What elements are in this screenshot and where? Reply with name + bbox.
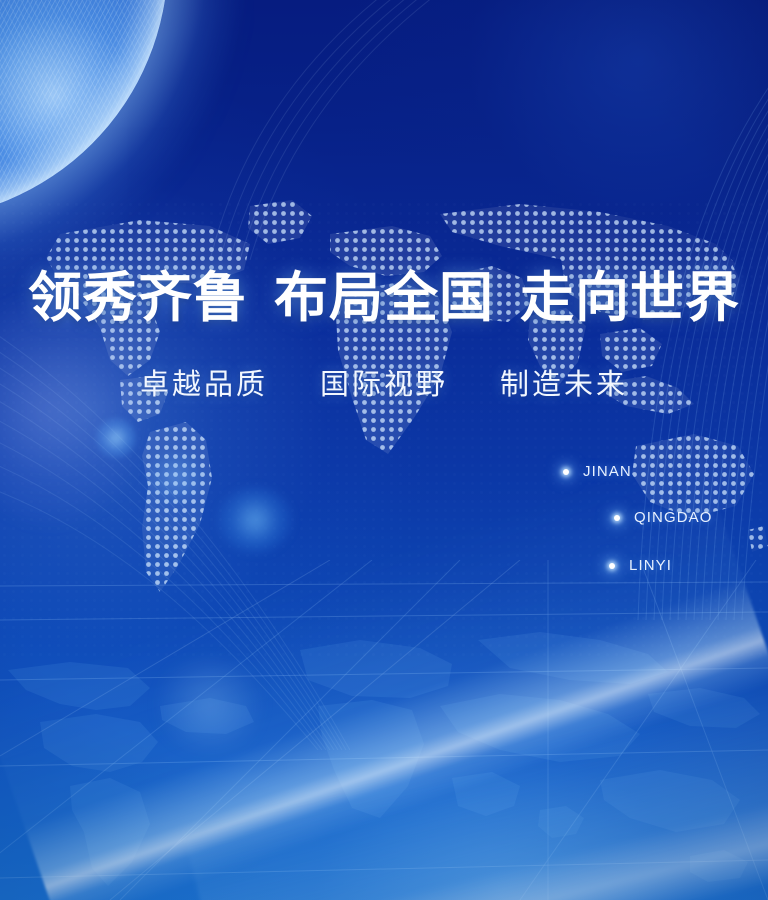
subheadline-segment-3: 制造未来 (500, 370, 628, 399)
globe-rim-light (0, 0, 168, 220)
globe-texture (0, 0, 168, 220)
ambient-glow-left (0, 60, 440, 760)
headline-segment-1: 领秀齐鲁 (28, 270, 248, 324)
headline-segment-3: 走向世界 (520, 270, 740, 324)
light-beam-streak-secondary (182, 661, 768, 900)
subheadline-segment-2: 国际视野 (320, 370, 448, 399)
subheadline-segment-1: 卓越品质 (140, 370, 268, 399)
banner-subheadline: 卓越品质国际视野制造未来 (0, 370, 768, 399)
perspective-grid (0, 560, 768, 900)
bokeh-glow-3 (218, 488, 292, 552)
banner-stage: 领秀齐鲁布局全国走向世界 卓越品质国际视野制造未来 JINAN QINGDAO … (0, 0, 768, 900)
world-map-silhouette (0, 610, 768, 900)
bokeh-glow-1 (96, 418, 136, 458)
globe-body (0, 0, 168, 220)
bokeh-glow-4 (0, 300, 140, 520)
headline-segment-2: 布局全国 (274, 270, 494, 324)
city-dot-marker-icon (614, 515, 620, 521)
city-marker-qingdao[interactable]: QINGDAO (614, 509, 713, 526)
city-label-jinan: JINAN (583, 463, 632, 480)
vignette-overlay (0, 0, 768, 900)
ambient-glow-bottom (90, 580, 768, 900)
city-marker-jinan[interactable]: JINAN (563, 463, 632, 480)
bokeh-glow-2 (148, 452, 204, 502)
city-label-linyi: LINYI (629, 557, 672, 574)
globe-halo (0, 0, 248, 300)
globe-earth-graphic (0, 0, 168, 220)
city-label-qingdao: QINGDAO (634, 509, 713, 526)
curved-lines-right (488, 60, 768, 620)
city-dot-marker-icon (609, 563, 615, 569)
curved-lines-top (150, 0, 450, 260)
bokeh-glow-5 (150, 660, 270, 750)
banner-headline: 领秀齐鲁布局全国走向世界 (0, 270, 768, 324)
city-dot-marker-icon (563, 469, 569, 475)
city-marker-linyi[interactable]: LINYI (609, 557, 672, 574)
